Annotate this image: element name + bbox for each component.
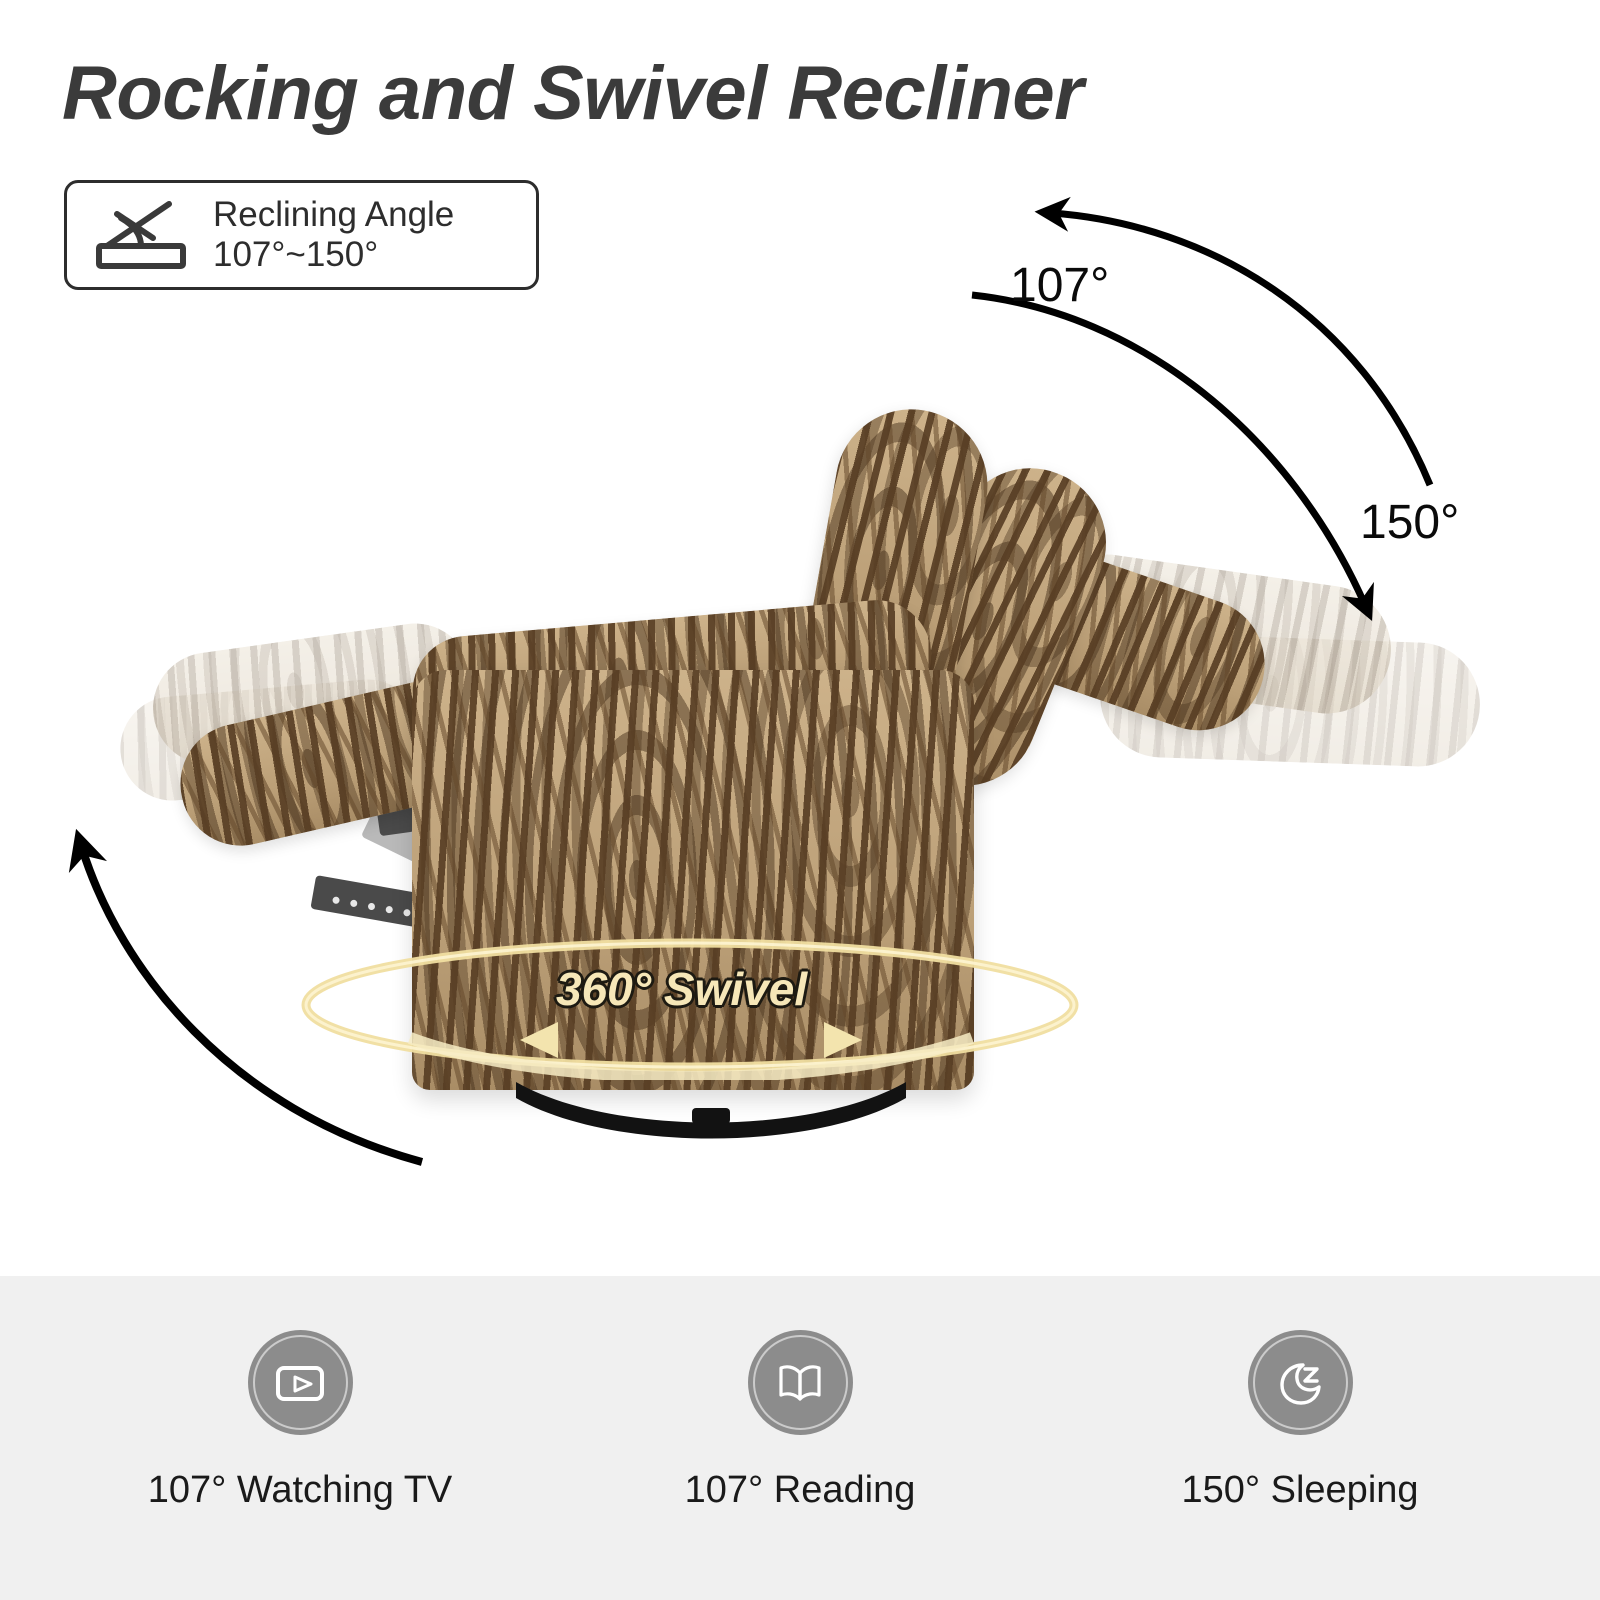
badge-line-1: Reclining Angle bbox=[213, 195, 454, 234]
badge-line-2: 107°~150° bbox=[213, 235, 378, 274]
hero-panel: Rocking and Swivel Recliner Reclining An… bbox=[0, 0, 1600, 1276]
rocking-motion-arrow bbox=[30, 810, 490, 1210]
swivel-base bbox=[510, 1072, 912, 1144]
feature-sleeping: 150° Sleeping bbox=[1050, 1276, 1550, 1512]
swivel-label: 360° Swivel bbox=[556, 962, 807, 1016]
page-title: Rocking and Swivel Recliner bbox=[62, 50, 1083, 137]
feature-label: 150° Sleeping bbox=[1181, 1469, 1418, 1512]
infographic-root: Rocking and Swivel Recliner Reclining An… bbox=[0, 0, 1600, 1600]
feature-watching-tv: 107° Watching TV bbox=[50, 1276, 550, 1512]
feature-reading: 107° Reading bbox=[550, 1276, 1050, 1512]
recliner-angle-icon bbox=[91, 198, 195, 272]
feature-label: 107° Reading bbox=[685, 1469, 916, 1512]
feature-strip: 107° Watching TV 107° Reading 150° Sleep… bbox=[0, 1276, 1600, 1600]
reclining-angle-text: Reclining Angle 107°~150° bbox=[213, 195, 454, 275]
reclining-angle-badge: Reclining Angle 107°~150° bbox=[64, 180, 539, 290]
feature-label: 107° Watching TV bbox=[148, 1469, 453, 1512]
video-play-icon bbox=[248, 1330, 353, 1435]
angle-label-150: 150° bbox=[1360, 495, 1459, 550]
recline-angle-arrows bbox=[960, 185, 1560, 625]
open-book-icon bbox=[748, 1330, 853, 1435]
moon-sleep-icon bbox=[1248, 1330, 1353, 1435]
angle-label-107: 107° bbox=[1010, 258, 1109, 313]
